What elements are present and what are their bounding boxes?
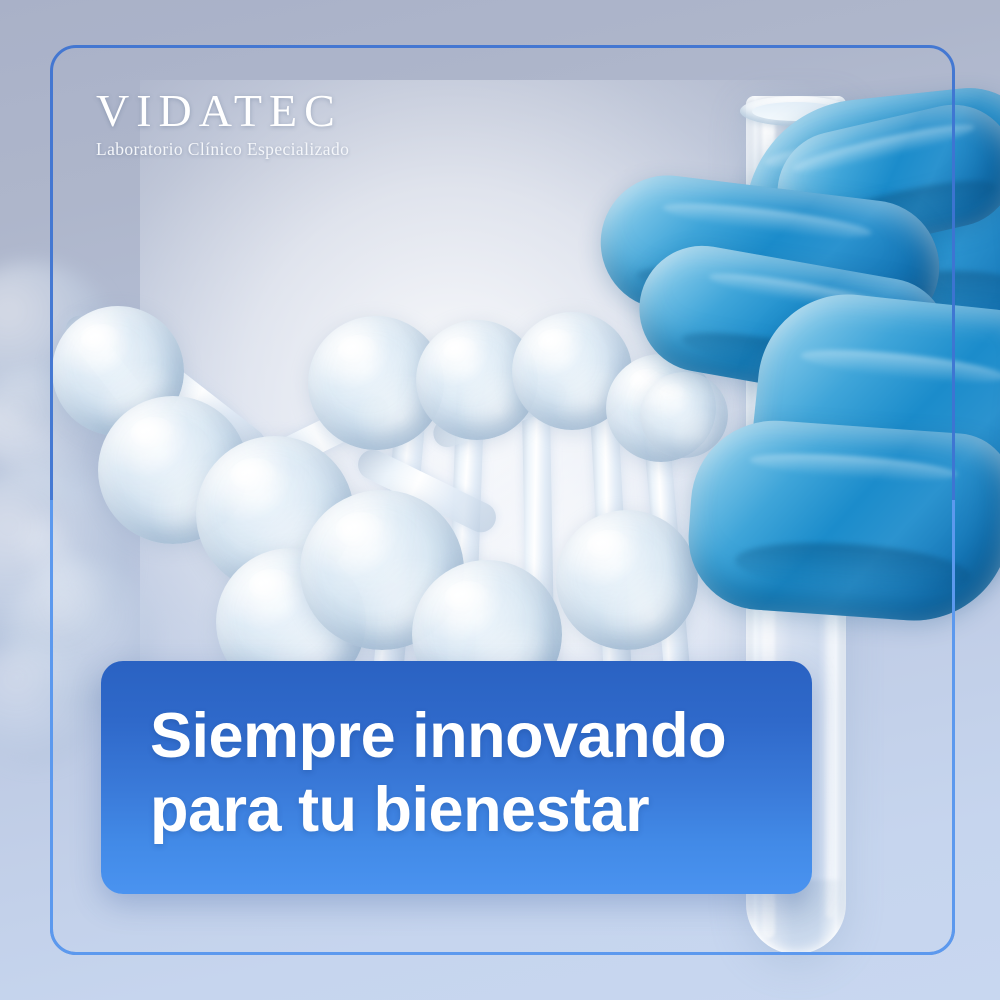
poster-canvas: VIDATEC Laboratorio Clínico Especializad… [0,0,1000,1000]
brand-logo: VIDATEC Laboratorio Clínico Especializad… [96,88,516,160]
brand-tagline: Laboratorio Clínico Especializado [96,139,516,160]
headline-banner: Siempre innovando para tu bienestar [101,661,812,894]
blue-gloved-hand [580,0,1000,760]
headline-line-2: para tu bienestar [150,773,812,847]
brand-wordmark: VIDATEC [96,88,516,135]
headline-line-1: Siempre innovando [150,699,812,773]
